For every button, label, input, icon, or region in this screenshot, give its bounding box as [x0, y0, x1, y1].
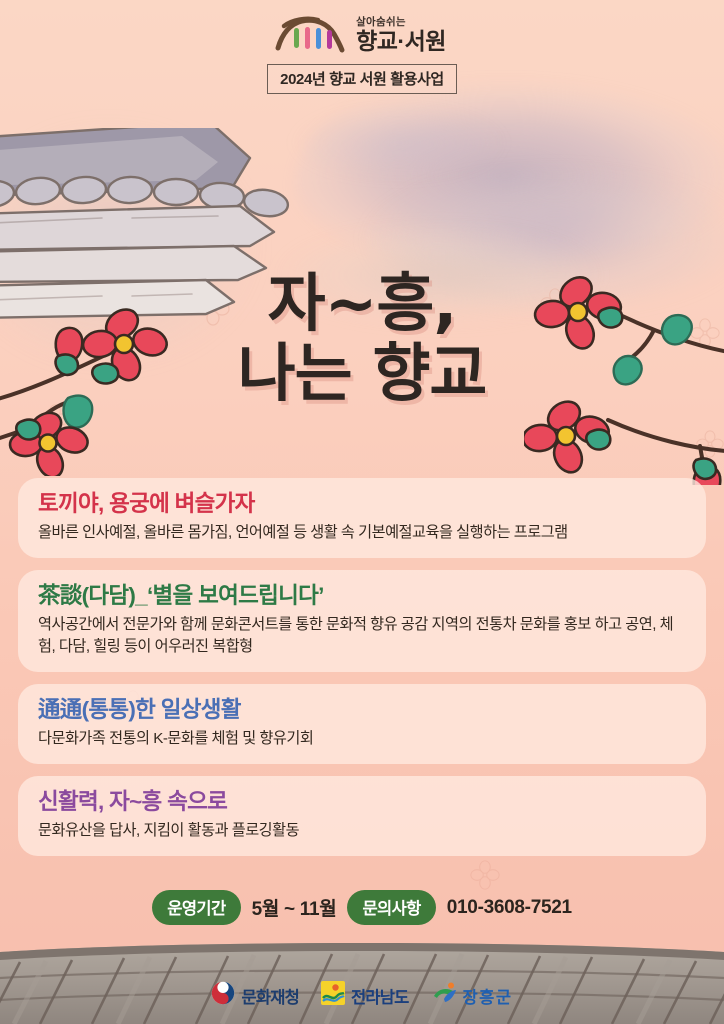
info-row: 운영기간 5월 ~ 11월 문의사항 010-3608-7521 — [0, 890, 724, 925]
program-list: 토끼야, 용궁에 벼슬가자 올바른 인사예절, 올바른 몸가짐, 언어예절 등 … — [18, 478, 706, 868]
program-card: 토끼야, 용궁에 벼슬가자 올바른 인사예절, 올바른 몸가짐, 언어예절 등 … — [18, 478, 706, 558]
program-title: 通通(통통)한 일상생활 — [38, 696, 686, 723]
brand-text: 살아숨쉬는 향교·서원 — [356, 17, 446, 53]
brand-title: 향교·서원 — [356, 30, 446, 53]
program-description: 역사공간에서 전문가와 함께 문화콘서트를 통한 문화적 향유 공감 지역의 전… — [38, 614, 686, 657]
jeonnam-square-icon — [321, 981, 345, 1010]
period-label-badge: 운영기간 — [152, 890, 240, 925]
title-line-2: 나는 향교 — [0, 342, 724, 406]
program-card: 通通(통통)한 일상생활 다문화가족 전통의 K-문화를 체험 및 향유기회 — [18, 684, 706, 764]
footer-logo-label: 문화재청 — [241, 984, 299, 1008]
program-title: 茶談(다담)_‘별을 보여드립니다’ — [38, 582, 686, 609]
footer-logo-jeonnam: 전라남도 — [321, 981, 409, 1010]
program-title: 신활력, 자~흥 속으로 — [38, 788, 686, 815]
clover-motif-icon — [696, 430, 724, 458]
program-description: 문화유산을 답사, 지킴이 활동과 플로깅활동 — [38, 820, 686, 842]
hyanggyo-seowon-roof-logo-icon — [272, 14, 346, 56]
jangheung-mark-icon — [431, 981, 457, 1010]
footer-logo-munhwajaecheong: 문화재청 — [211, 981, 299, 1010]
brand-lockup: 살아숨쉬는 향교·서원 — [0, 14, 724, 56]
contact-value: 010-3608-7521 — [447, 897, 572, 919]
program-card: 신활력, 자~흥 속으로 문화유산을 답사, 지킴이 활동과 플로깅활동 — [18, 776, 706, 856]
program-description: 다문화가족 전통의 K-문화를 체험 및 향유기회 — [38, 728, 686, 750]
period-value: 5월 ~ 11월 — [252, 894, 337, 921]
poster-root: 살아숨쉬는 향교·서원 2024년 향교 서원 활용사업 자~흥, 나는 향교 … — [0, 0, 724, 1024]
contact-label-badge: 문의사항 — [347, 890, 435, 925]
year-project-badge: 2024년 향교 서원 활용사업 — [267, 64, 457, 94]
footer-logo-label: 장흥군 — [463, 984, 513, 1008]
brand-subtitle: 살아숨쉬는 — [356, 17, 406, 28]
clover-motif-icon — [40, 404, 70, 434]
program-card: 茶談(다담)_‘별을 보여드립니다’ 역사공간에서 전문가와 함께 문화콘서트를… — [18, 570, 706, 672]
title-line-1: 자~흥, — [0, 272, 724, 336]
taegeuk-icon — [211, 981, 235, 1010]
footer-logo-label: 전라남도 — [351, 984, 409, 1008]
footer-logo-jangheung: 장흥군 — [431, 981, 513, 1010]
poster-header: 살아숨쉬는 향교·서원 2024년 향교 서원 활용사업 — [0, 0, 724, 94]
page-title: 자~흥, 나는 향교 — [0, 272, 724, 407]
program-title: 토끼야, 용궁에 벼슬가자 — [38, 490, 686, 517]
program-description: 올바른 인사예절, 올바른 몸가짐, 언어예절 등 생활 속 기본예절교육을 실… — [38, 522, 686, 544]
footer-logos: 문화재청 전라남도 장흥군 — [0, 981, 724, 1010]
